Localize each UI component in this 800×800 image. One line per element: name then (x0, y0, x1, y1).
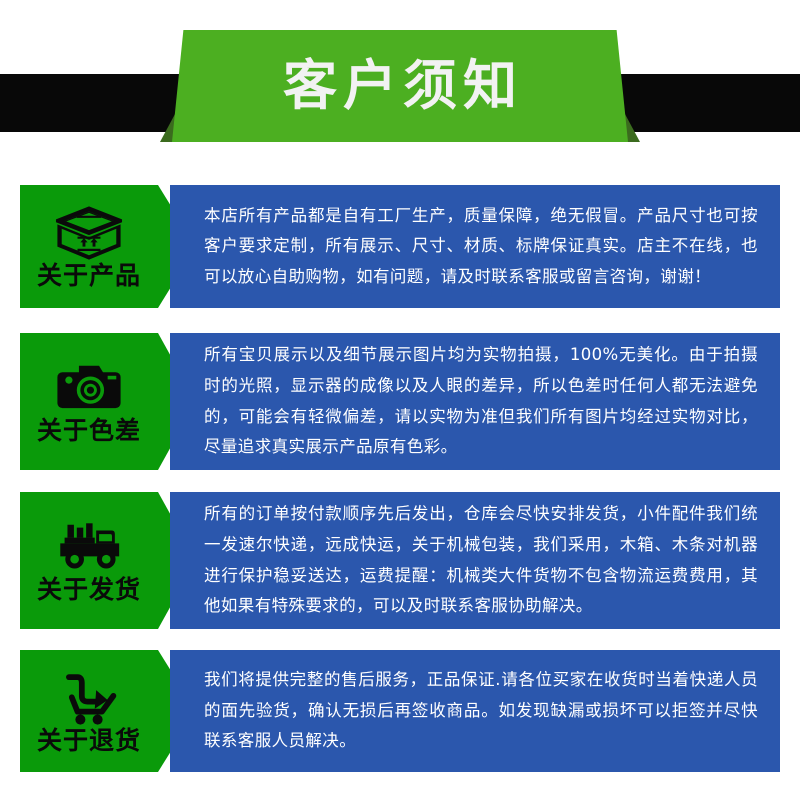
info-row-product: 关于产品 本店所有产品都是自有工厂生产，质量保障，绝无假冒。产品尺寸也可按客户要… (0, 185, 800, 308)
label-text-returns: 关于退货 (37, 728, 141, 753)
info-row-returns: 关于退货 我们将提供完整的售后服务，正品保证.请各位买家在收货时当着快递人员的面… (0, 650, 800, 772)
camera-icon (50, 360, 128, 416)
panel-text-shipping: 所有的订单按付款顺序先后发出，仓库会尽快安排发货，小件配件我们统一发速尔快递，远… (170, 499, 780, 621)
panel-text-product: 本店所有产品都是自有工厂生产，质量保障，绝无假冒。产品尺寸也可按客户要求定制，所… (170, 201, 780, 293)
return-cart-icon (50, 670, 128, 726)
package-box-icon (50, 205, 128, 261)
banner-plate: 客户须知 (172, 30, 628, 142)
label-card-returns[interactable]: 关于退货 (20, 650, 158, 772)
label-text-color-difference: 关于色差 (37, 418, 141, 443)
label-card-color-difference[interactable]: 关于色差 (20, 333, 158, 470)
label-card-product[interactable]: 关于产品 (20, 185, 158, 308)
text-panel-returns: 我们将提供完整的售后服务，正品保证.请各位买家在收货时当着快递人员的面先验货，确… (170, 650, 780, 772)
text-panel-color-difference: 所有宝贝展示以及细节展示图片均为实物拍摄，100%无美化。由于拍摄时的光照，显示… (170, 333, 780, 470)
text-panel-shipping: 所有的订单按付款顺序先后发出，仓库会尽快安排发货，小件配件我们统一发速尔快递，远… (170, 492, 780, 629)
page-title: 客户须知 (277, 59, 523, 113)
label-card-shipping[interactable]: 关于发货 (20, 492, 158, 629)
panel-text-returns: 我们将提供完整的售后服务，正品保证.请各位买家在收货时当着快递人员的面先验货，确… (170, 665, 780, 757)
text-panel-product: 本店所有产品都是自有工厂生产，质量保障，绝无假冒。产品尺寸也可按客户要求定制，所… (170, 185, 780, 308)
forklift-truck-icon (50, 519, 128, 575)
info-row-shipping: 关于发货 所有的订单按付款顺序先后发出，仓库会尽快安排发货，小件配件我们统一发速… (0, 492, 800, 629)
header-banner: 客户须知 (0, 0, 800, 160)
label-text-shipping: 关于发货 (37, 577, 141, 602)
label-text-product: 关于产品 (37, 263, 141, 288)
panel-text-color-difference: 所有宝贝展示以及细节展示图片均为实物拍摄，100%无美化。由于拍摄时的光照，显示… (170, 340, 780, 462)
info-row-color-difference: 关于色差 所有宝贝展示以及细节展示图片均为实物拍摄，100%无美化。由于拍摄时的… (0, 333, 800, 470)
